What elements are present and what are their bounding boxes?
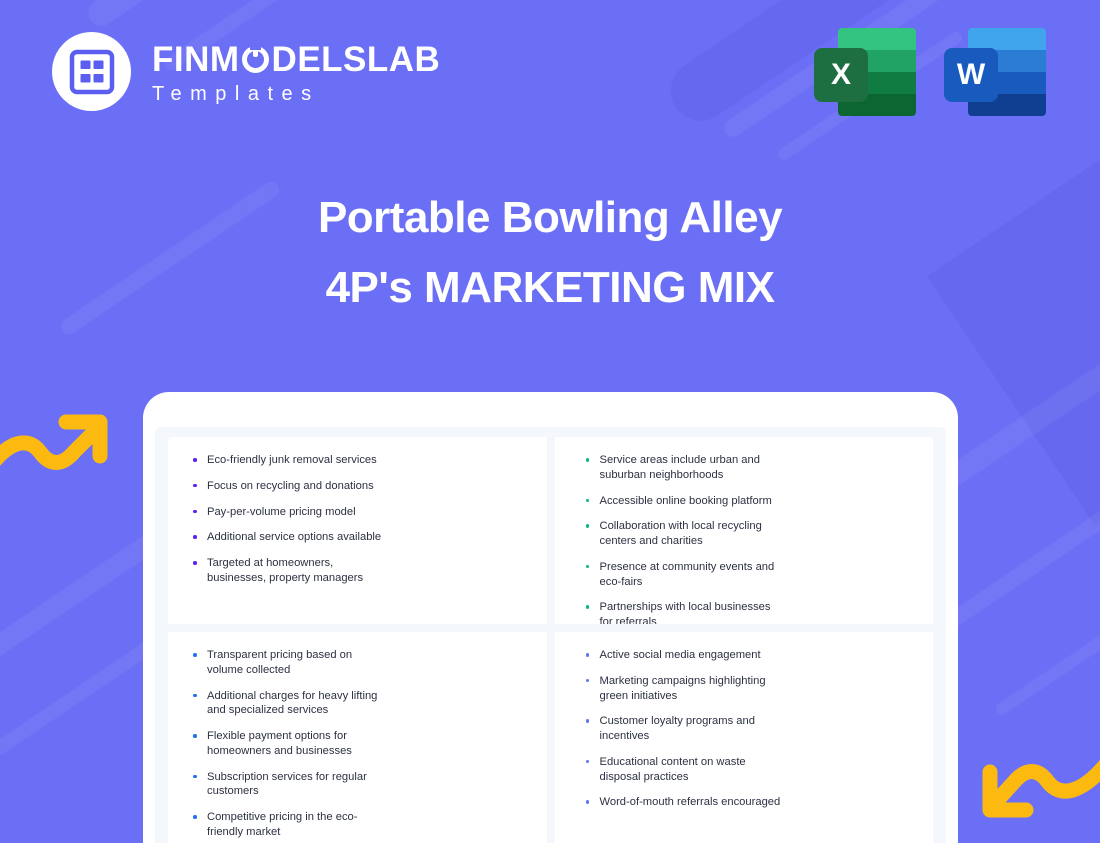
title-line-1: Portable Bowling Alley (0, 196, 1100, 240)
power-o-icon (241, 44, 271, 74)
list-item: Additional service options available (192, 530, 388, 545)
list-item: Presence at community events and eco-fai… (585, 560, 781, 590)
brand-name: FINM DELSLAB (152, 42, 440, 77)
list-item: Accessible online booking platform (585, 494, 781, 509)
squiggly-arrow-up-right-icon (0, 400, 122, 497)
excel-icon[interactable]: X (814, 28, 916, 120)
word-letter: W (944, 48, 998, 102)
list-item: Targeted at homeowners, businesses, prop… (192, 556, 388, 586)
quadrant-grid: Eco-friendly junk removal services Focus… (168, 437, 933, 843)
list-item: Educational content on waste disposal pr… (585, 755, 781, 785)
brand-name-head: FINM (152, 42, 240, 77)
squiggly-arrow-down-left-icon (972, 738, 1100, 839)
list-item: Partnerships with local businesses for r… (585, 600, 781, 624)
list-item: Customer loyalty programs and incentives (585, 714, 781, 744)
list-item: Pay-per-volume pricing model (192, 505, 388, 520)
brand-name-tail: DELSLAB (272, 42, 441, 77)
list-item: Eco-friendly junk removal services (192, 453, 388, 468)
page-header: FINM DELSLAB Templates X (0, 0, 1100, 150)
brand-logo[interactable]: FINM DELSLAB Templates (52, 32, 440, 111)
page-title: Portable Bowling Alley 4P's MARKETING MI… (0, 196, 1100, 310)
list-item: Additional charges for heavy lifting and… (192, 689, 388, 719)
excel-letter: X (814, 48, 868, 102)
list-item: Marketing campaigns highlighting green i… (585, 674, 781, 704)
list-item: Competitive pricing in the eco-friendly … (192, 810, 388, 840)
list-item: Flexible payment options for homeowners … (192, 729, 388, 759)
bullet-list-price: Service areas include urban and suburban… (555, 437, 934, 624)
list-item: Service areas include urban and suburban… (585, 453, 781, 483)
list-item: Word-of-mouth referrals encouraged (585, 795, 781, 810)
brand-subtitle: Templates (152, 84, 440, 104)
bullet-list-product: Eco-friendly junk removal services Focus… (168, 437, 547, 586)
quadrant-panel-promotion: Active social media engagement Marketing… (555, 632, 934, 843)
word-icon[interactable]: W (944, 28, 1046, 120)
list-item: Transparent pricing based on volume coll… (192, 648, 388, 678)
content-card: Eco-friendly junk removal services Focus… (143, 392, 958, 843)
title-line-2: 4P's MARKETING MIX (0, 266, 1100, 310)
list-item: Collaboration with local recycling cente… (585, 519, 781, 549)
format-icons: X W (814, 28, 1046, 120)
quadrant-panel-place: Transparent pricing based on volume coll… (168, 632, 547, 843)
quadrant-panel-price: Service areas include urban and suburban… (555, 437, 934, 624)
list-item: Active social media engagement (585, 648, 781, 663)
bullet-list-promotion: Active social media engagement Marketing… (555, 632, 934, 810)
bullet-list-place: Transparent pricing based on volume coll… (168, 632, 547, 840)
quadrant-panel-product: Eco-friendly junk removal services Focus… (168, 437, 547, 624)
list-item: Subscription services for regular custom… (192, 770, 388, 800)
list-item: Focus on recycling and donations (192, 479, 388, 494)
card-inner-panel: Eco-friendly junk removal services Focus… (155, 427, 946, 843)
grid-squares-icon (52, 32, 131, 111)
